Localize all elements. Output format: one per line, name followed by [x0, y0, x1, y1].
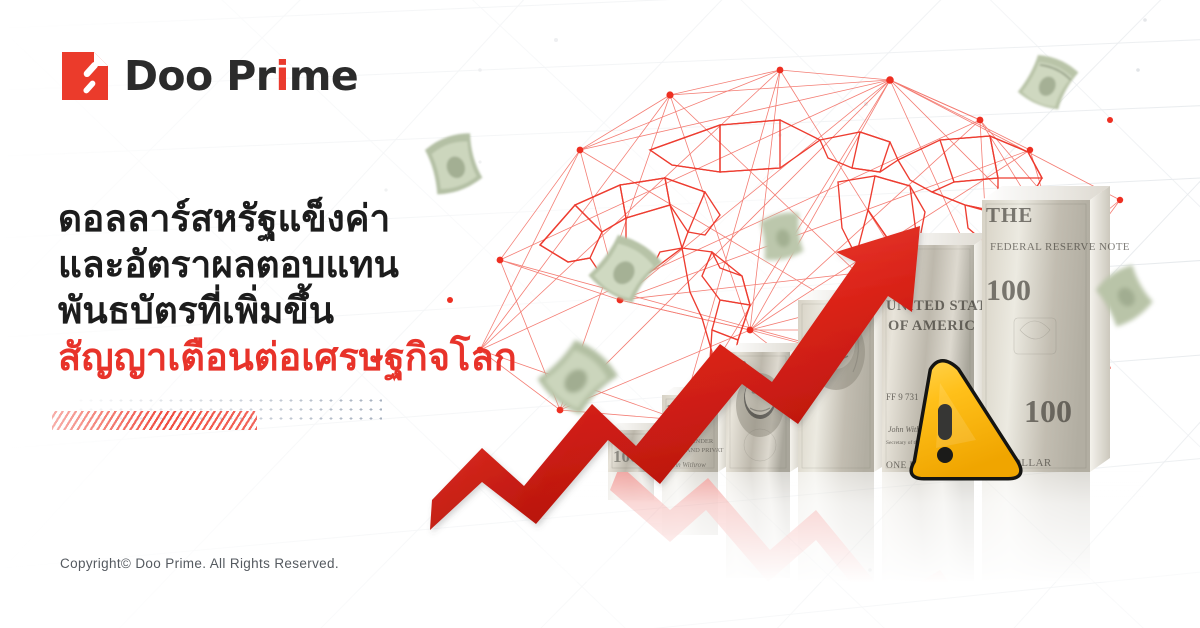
floor-reflection: [540, 458, 1200, 628]
brand-wordmark-part1: Doo Pr: [124, 52, 275, 100]
svg-text:FF 9 731: FF 9 731: [886, 392, 919, 402]
decor-strip: [52, 396, 382, 436]
red-diagonal-hatch-band-icon: [52, 411, 257, 430]
svg-text:100: 100: [986, 274, 1031, 307]
brand-wordmark-part2: me: [289, 52, 358, 100]
svg-text:FEDERAL RESERVE NOTE: FEDERAL RESERVE NOTE: [990, 241, 1130, 253]
brand-logo[interactable]: Doo Prime: [62, 52, 358, 100]
svg-text:OF AMERIC: OF AMERIC: [888, 318, 975, 334]
svg-text:100: 100: [1024, 393, 1072, 429]
headline-line-2: และอัตราผลตอบแทน: [58, 242, 618, 288]
brand-wordmark-i: i: [275, 52, 288, 100]
headline-line-3: พันธบัตรที่เพิ่มขึ้น: [58, 288, 618, 334]
headline-block: ดอลลาร์สหรัฐแข็งค่า และอัตราผลตอบแทน พัน…: [58, 196, 618, 380]
headline-line-1: ดอลลาร์สหรัฐแข็งค่า: [58, 196, 618, 242]
doo-prime-logo-mark-icon: [62, 52, 108, 100]
copyright-text: Copyright© Doo Prime. All Rights Reserve…: [60, 556, 339, 571]
banner-root: 100 100 LEGAL TENDER UBLIC AND PRIVAT: [0, 0, 1200, 628]
svg-text:THE: THE: [986, 203, 1033, 227]
headline-line-4-accent: สัญญาเตือนต่อเศรษฐกิจโลก: [58, 334, 618, 380]
brand-wordmark: Doo Prime: [124, 56, 358, 97]
